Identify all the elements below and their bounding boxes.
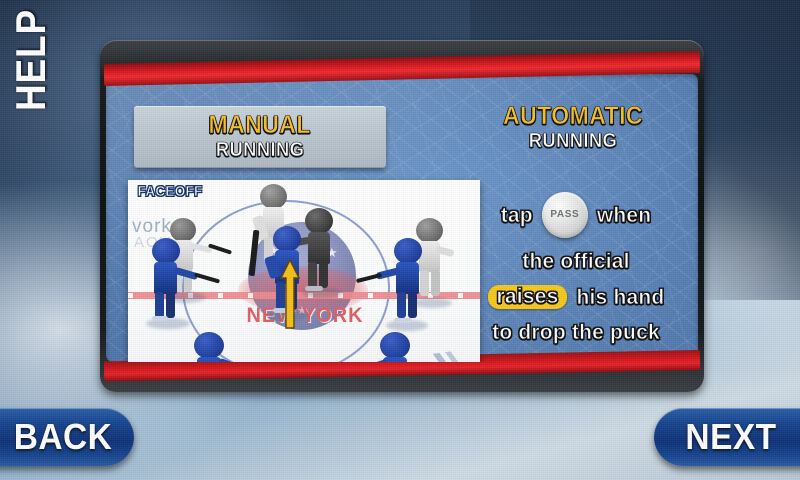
board-ice-surface: MANUAL RUNNING AUTOMATIC RUNNING vorks A… <box>106 74 698 362</box>
pass-button[interactable]: PASS <box>542 192 588 238</box>
back-button[interactable]: BACK <box>0 408 134 466</box>
tab-manual[interactable]: MANUAL RUNNING <box>134 106 386 168</box>
instructions-block: tap PASS when the official raises his ha… <box>442 192 698 356</box>
player-figure <box>380 238 438 332</box>
screenshot-canvas: vorks AOV ★ ★ ★ NEW YORK <box>128 180 480 362</box>
back-button-label: BACK <box>14 416 113 458</box>
page-title: HELP <box>7 7 55 113</box>
instruction-line-4: to drop the puck <box>442 322 698 343</box>
tab-automatic-title: AUTOMATIC <box>452 104 693 130</box>
next-button-label: NEXT <box>685 416 776 458</box>
tab-manual-title: MANUAL <box>209 113 311 139</box>
instruction-line-3: raises his hand <box>442 285 698 309</box>
faceoff-badge: FACEOFF <box>138 183 203 200</box>
tab-automatic[interactable]: AUTOMATIC RUNNING <box>442 104 698 152</box>
faceoff-screenshot: vorks AOV ★ ★ ★ NEW YORK <box>128 180 480 362</box>
player-figure <box>368 332 424 362</box>
tab-manual-subtitle: RUNNING <box>216 140 304 161</box>
help-screen: HELP MANUAL RUNNING AUTOMATIC RUNNING vo… <box>0 0 800 480</box>
instruction-text-tap: tap <box>501 205 533 226</box>
instruction-text-his-hand: his hand <box>576 287 664 308</box>
instruction-line-2: the official <box>442 251 698 272</box>
help-board: MANUAL RUNNING AUTOMATIC RUNNING vorks A… <box>100 40 704 392</box>
player-figure <box>142 238 198 330</box>
instruction-line-1: tap PASS when <box>442 192 698 238</box>
instruction-text-when: when <box>597 205 651 226</box>
highlighted-word-raises: raises <box>488 285 568 309</box>
tab-automatic-subtitle: RUNNING <box>452 131 693 152</box>
highlight-up-arrow-icon <box>280 258 300 330</box>
next-button[interactable]: NEXT <box>654 408 800 466</box>
player-figure <box>186 332 246 362</box>
